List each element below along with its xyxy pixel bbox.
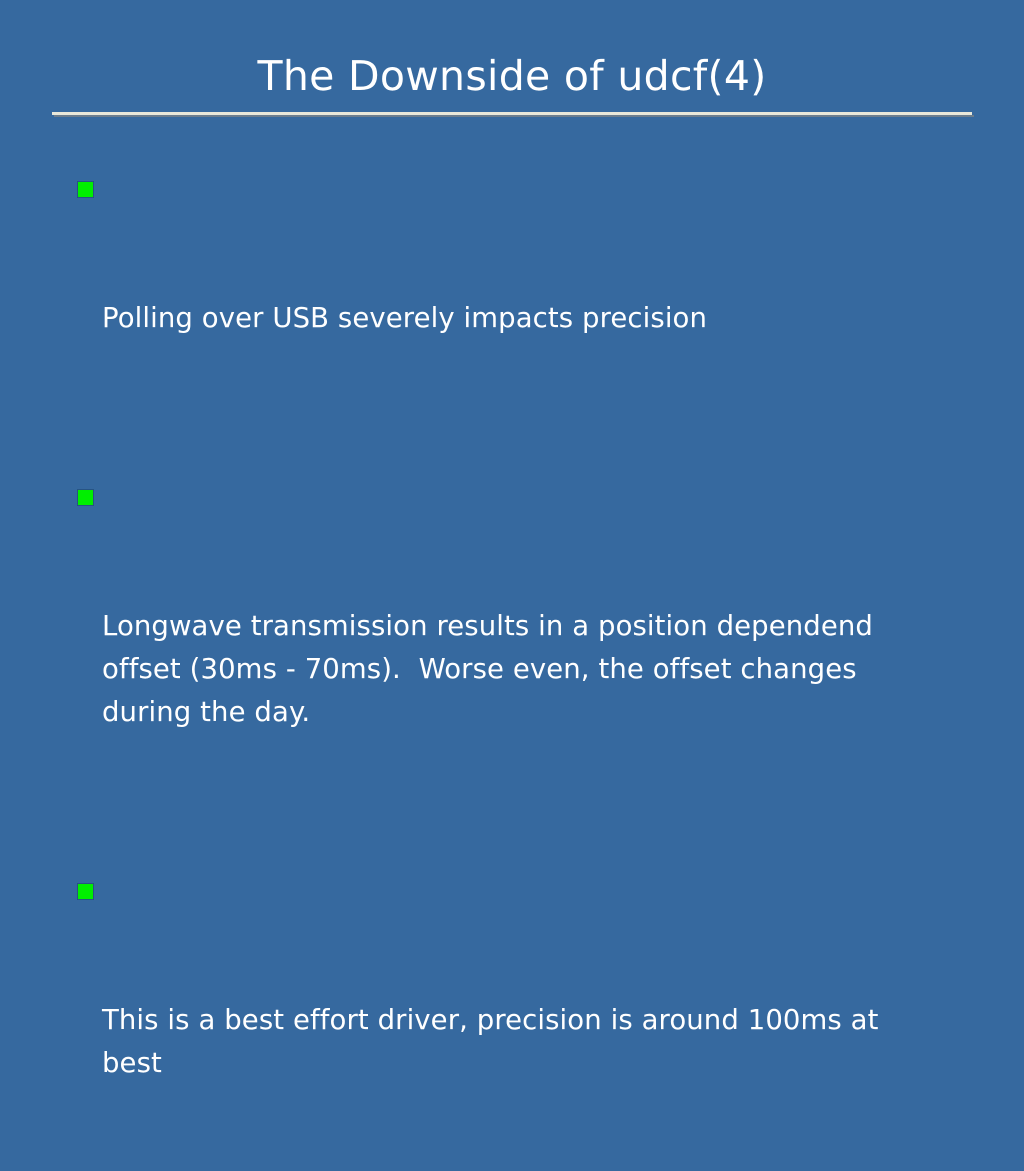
list-item: Polling over USB severely impacts precis… — [74, 168, 964, 426]
slide-canvas: The Downside of udcf(4) Polling over USB… — [0, 0, 1024, 768]
square-bullet-icon — [78, 490, 93, 505]
list-item: This is a best effort driver, precision … — [74, 870, 964, 1171]
square-bullet-icon — [78, 884, 93, 899]
list-item: Longwave transmission results in a posit… — [74, 476, 964, 820]
slide-title: The Downside of udcf(4) — [52, 52, 972, 100]
divider-shadow-line — [54, 115, 974, 117]
list-item-text: Longwave transmission results in a posit… — [102, 605, 947, 734]
bullet-list: Polling over USB severely impacts precis… — [74, 168, 964, 1171]
list-item-text: Polling over USB severely impacts precis… — [102, 297, 947, 340]
square-bullet-icon — [78, 182, 93, 197]
title-divider — [52, 112, 972, 117]
list-item-text: This is a best effort driver, precision … — [102, 999, 947, 1085]
